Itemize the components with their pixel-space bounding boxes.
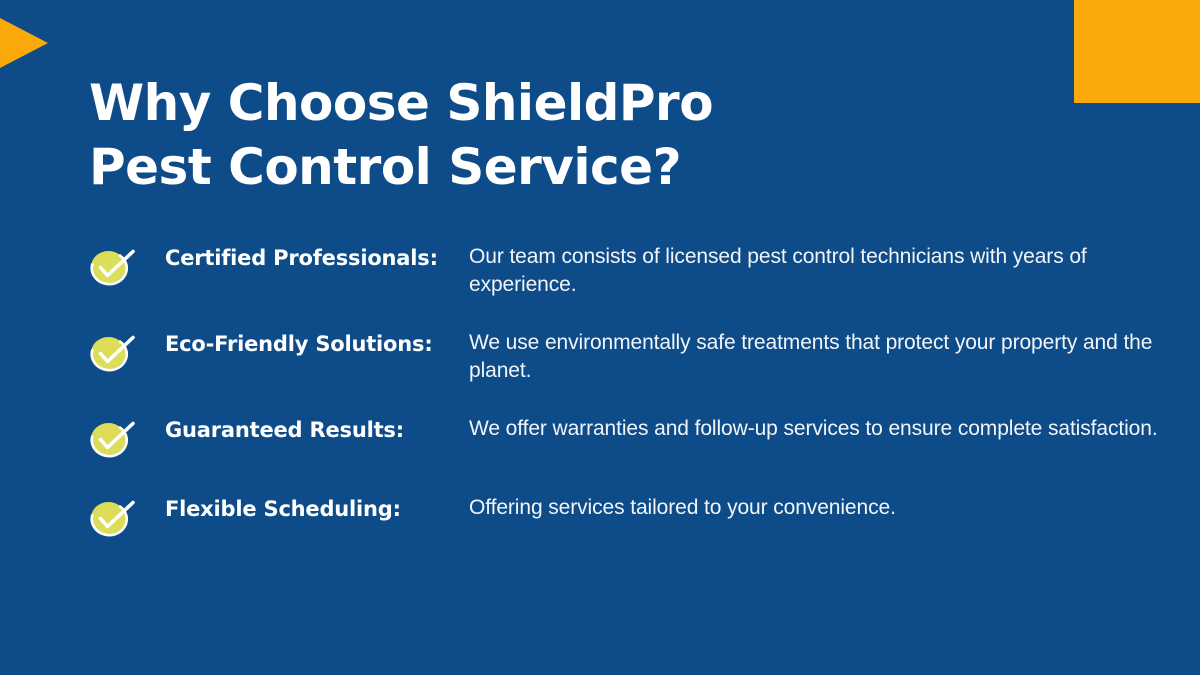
rectangle-shape [1074,0,1200,103]
check-circle-icon [89,334,139,378]
check-circle-icon [89,248,139,292]
feature-label: Guaranteed Results: [165,415,455,445]
check-circle-icon [89,499,139,543]
list-item: Guaranteed Results: We offer warranties … [89,415,1174,464]
page-title-line-2: Pest Control Service? [89,135,989,199]
list-item: Flexible Scheduling: Offering services t… [89,494,1174,543]
feature-description: We use environmentally safe treatments t… [469,329,1174,385]
slide-canvas: Why Choose ShieldPro Pest Control Servic… [0,0,1200,675]
feature-label: Eco-Friendly Solutions: [165,329,455,359]
feature-label: Certified Professionals: [165,243,455,273]
feature-description: Offering services tailored to your conve… [469,494,1174,522]
check-circle-icon [89,420,139,464]
feature-description: We offer warranties and follow-up servic… [469,415,1174,443]
feature-description: Our team consists of licensed pest contr… [469,243,1174,299]
page-title-line-1: Why Choose ShieldPro [89,71,989,135]
page-title: Why Choose ShieldPro Pest Control Servic… [89,71,989,199]
feature-label: Flexible Scheduling: [165,494,455,524]
list-item: Certified Professionals: Our team consis… [89,243,1174,299]
triangle-right-shape [0,18,48,68]
feature-list: Certified Professionals: Our team consis… [89,243,1174,543]
list-item: Eco-Friendly Solutions: We use environme… [89,329,1174,385]
